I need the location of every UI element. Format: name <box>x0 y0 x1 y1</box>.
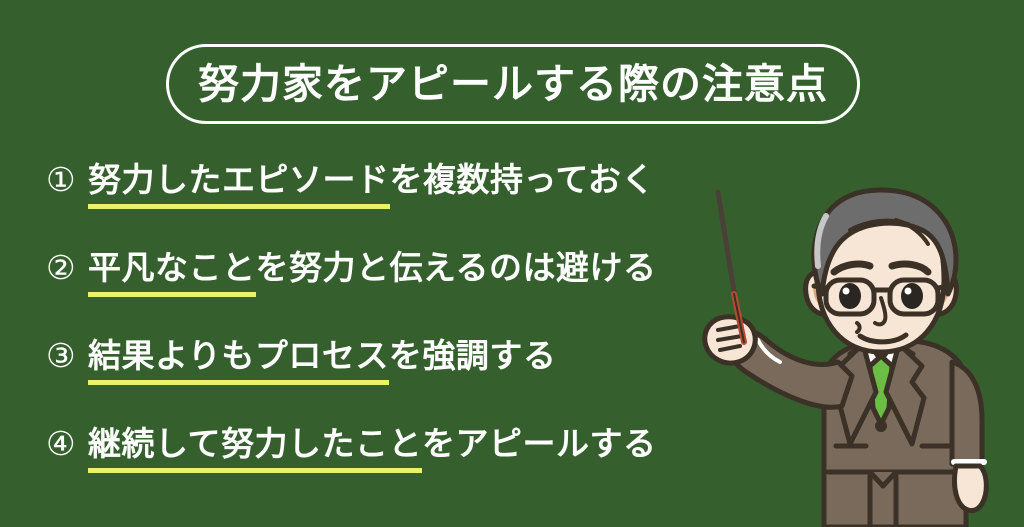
list-item-marker: ① <box>46 158 88 202</box>
list-item-marker: ② <box>46 246 88 290</box>
list-item-text: 平凡なことを努力と伝えるのは避ける <box>88 246 657 290</box>
list-item: ③ 結果よりもプロセスを強調する <box>46 334 746 422</box>
notes-list: ① 努力したエピソードを複数持っておく ② 平凡なことを努力と伝えるのは避ける … <box>46 158 746 510</box>
list-item-rest: を努力と伝えるのは避ける <box>256 249 657 286</box>
gripping-hand <box>705 317 755 363</box>
list-item-rest: を強調する <box>389 337 557 374</box>
list-item-text: 継続して努力したことをアピールする <box>88 422 657 466</box>
list-item-text: 結果よりもプロセスを強調する <box>88 334 556 378</box>
list-item: ② 平凡なことを努力と伝えるのは避ける <box>46 246 746 334</box>
list-item-highlight: 平凡なこと <box>88 246 256 290</box>
list-item-marker: ③ <box>46 334 88 378</box>
list-item-rest: を複数持っておく <box>390 161 655 198</box>
list-item: ① 努力したエピソードを複数持っておく <box>46 158 746 246</box>
list-item-highlight: 努力したエピソード <box>88 158 390 202</box>
title-pill: 努力家をアピールする際の注意点 <box>166 44 860 124</box>
hanging-arm <box>952 362 986 511</box>
list-item-highlight: 結果よりもプロセス <box>88 334 389 378</box>
list-item-marker: ④ <box>46 422 88 466</box>
page-title: 努力家をアピールする際の注意点 <box>198 64 828 105</box>
list-item-rest: をアピールする <box>422 425 657 462</box>
slide-canvas: 努力家をアピールする際の注意点 ① 努力したエピソードを複数持っておく ② 平凡… <box>0 0 1024 527</box>
businessman-illustration <box>700 176 1024 527</box>
list-item: ④ 継続して努力したことをアピールする <box>46 422 746 510</box>
list-item-text: 努力したエピソードを複数持っておく <box>88 158 655 202</box>
list-item-highlight: 継続して努力したこと <box>88 422 422 466</box>
